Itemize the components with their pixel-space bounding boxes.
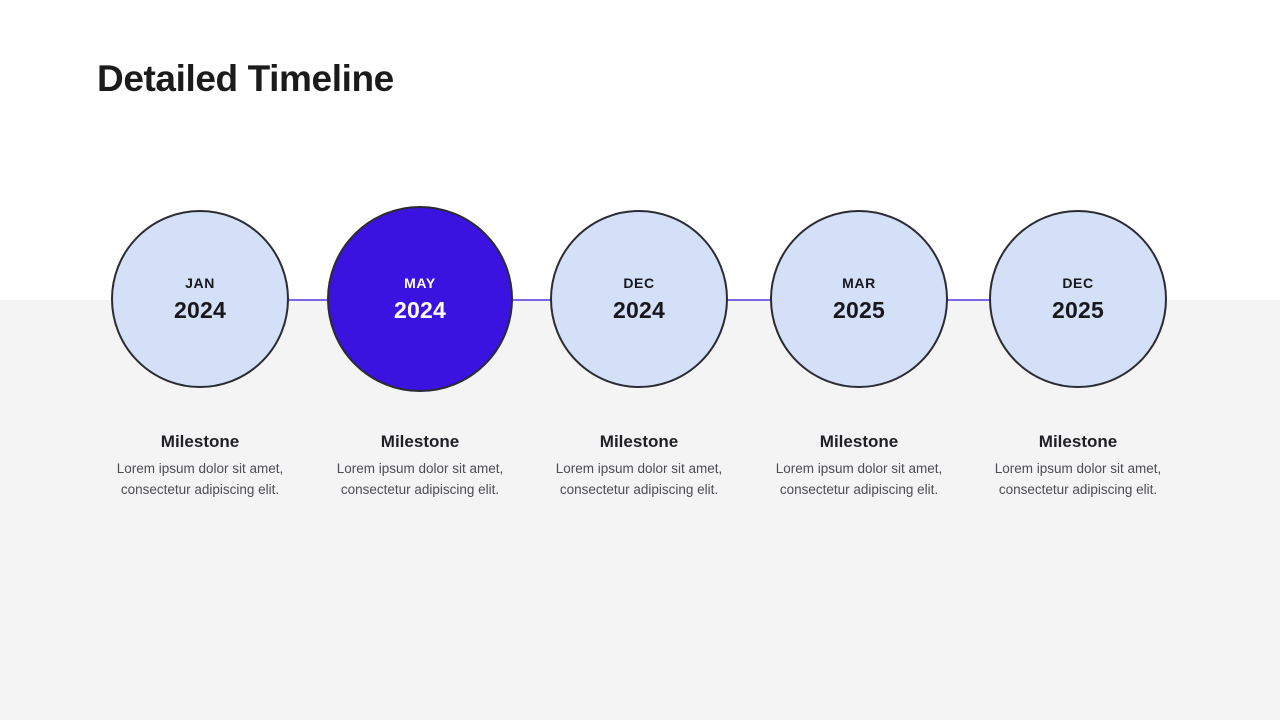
timeline-item-1[interactable]: JAN 2024 Milestone Lorem ipsum dolor sit… [90, 0, 310, 720]
milestone-year-1: 2024 [174, 297, 226, 324]
timeline-item-5[interactable]: DEC 2025 Milestone Lorem ipsum dolor sit… [968, 0, 1188, 720]
milestone-circle-wrapper-2: MAY 2024 [310, 209, 530, 389]
timeline-item-2[interactable]: MAY 2024 Milestone Lorem ipsum dolor sit… [310, 0, 530, 720]
milestone-caption-body-1: Lorem ipsum dolor sit amet, consectetur … [100, 459, 300, 500]
milestone-year-2: 2024 [394, 297, 446, 324]
milestone-caption-body-2: Lorem ipsum dolor sit amet, consectetur … [320, 459, 520, 500]
timeline-slide: Detailed Timeline JAN 2024 Milestone Lor… [0, 0, 1280, 720]
milestone-caption-2: Milestone Lorem ipsum dolor sit amet, co… [320, 430, 520, 500]
milestone-caption-3: Milestone Lorem ipsum dolor sit amet, co… [539, 430, 739, 500]
milestone-month-2: MAY [404, 274, 436, 292]
milestone-circle-wrapper-4: MAR 2025 [749, 209, 969, 389]
milestone-circle-wrapper-1: JAN 2024 [90, 209, 310, 389]
milestone-circle-1[interactable]: JAN 2024 [111, 210, 289, 388]
timeline-item-4[interactable]: MAR 2025 Milestone Lorem ipsum dolor sit… [749, 0, 969, 720]
milestone-year-4: 2025 [833, 297, 885, 324]
milestone-caption-body-4: Lorem ipsum dolor sit amet, consectetur … [759, 459, 959, 500]
timeline-item-3[interactable]: DEC 2024 Milestone Lorem ipsum dolor sit… [529, 0, 749, 720]
milestone-month-5: DEC [1062, 274, 1093, 292]
milestone-caption-title-3: Milestone [539, 430, 739, 454]
milestone-caption-title-2: Milestone [320, 430, 520, 454]
milestone-caption-body-5: Lorem ipsum dolor sit amet, consectetur … [978, 459, 1178, 500]
milestone-month-4: MAR [842, 274, 876, 292]
milestone-caption-title-1: Milestone [100, 430, 300, 454]
milestone-caption-4: Milestone Lorem ipsum dolor sit amet, co… [759, 430, 959, 500]
milestone-caption-5: Milestone Lorem ipsum dolor sit amet, co… [978, 430, 1178, 500]
milestone-circle-wrapper-3: DEC 2024 [529, 209, 749, 389]
milestone-circle-2[interactable]: MAY 2024 [327, 206, 513, 392]
milestone-caption-title-4: Milestone [759, 430, 959, 454]
milestone-caption-title-5: Milestone [978, 430, 1178, 454]
milestone-caption-body-3: Lorem ipsum dolor sit amet, consectetur … [539, 459, 739, 500]
milestone-year-5: 2025 [1052, 297, 1104, 324]
milestone-month-1: JAN [185, 274, 215, 292]
milestone-month-3: DEC [623, 274, 654, 292]
milestone-circle-3[interactable]: DEC 2024 [550, 210, 728, 388]
milestone-circle-4[interactable]: MAR 2025 [770, 210, 948, 388]
milestone-year-3: 2024 [613, 297, 665, 324]
milestone-circle-5[interactable]: DEC 2025 [989, 210, 1167, 388]
milestone-circle-wrapper-5: DEC 2025 [968, 209, 1188, 389]
milestone-caption-1: Milestone Lorem ipsum dolor sit amet, co… [100, 430, 300, 500]
